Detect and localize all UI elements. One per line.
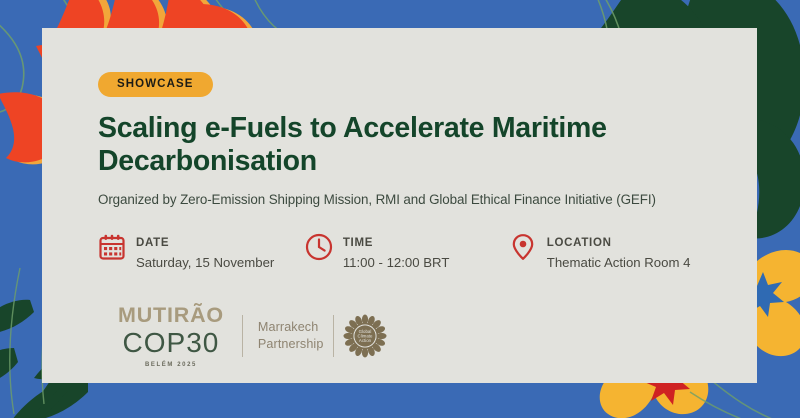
info-value-time: 11:00 - 12:00 BRT bbox=[343, 253, 450, 272]
event-details-row: DATE Saturday, 15 November TIME bbox=[98, 232, 727, 272]
calendar-icon bbox=[98, 233, 126, 261]
info-label-location: LOCATION bbox=[547, 237, 612, 249]
info-text-date: DATE Saturday, 15 November bbox=[136, 232, 274, 272]
logo-strip: MUTIRÃO COP30 BELÉM 2025 Marrakech Partn… bbox=[118, 305, 387, 368]
cop30-logo-belem: BELÉM 2025 bbox=[118, 362, 224, 368]
event-poster: SHOWCASE Scaling e-Fuels to Accelerate M… bbox=[0, 0, 800, 418]
card-inner: SHOWCASE Scaling e-Fuels to Accelerate M… bbox=[98, 72, 727, 272]
info-item-time: TIME 11:00 - 12:00 BRT bbox=[305, 232, 509, 272]
location-pin-icon bbox=[509, 233, 537, 261]
info-value-date: Saturday, 15 November bbox=[136, 253, 274, 272]
global-climate-action-emblem: Global Climate Action bbox=[343, 314, 387, 358]
marrakech-line1: Marrakech bbox=[258, 319, 324, 336]
emblem-line3: Action bbox=[359, 338, 372, 343]
info-label-time: TIME bbox=[343, 237, 373, 249]
clock-icon bbox=[305, 233, 333, 261]
cop30-logo-mutirao: MUTIRÃO bbox=[118, 305, 224, 327]
logo-divider-1 bbox=[242, 315, 243, 357]
info-label-date: DATE bbox=[136, 237, 169, 249]
info-text-time: TIME 11:00 - 12:00 BRT bbox=[343, 232, 450, 272]
page-title: Scaling e-Fuels to Accelerate Maritime D… bbox=[98, 112, 708, 179]
organizers-subtitle: Organized by Zero-Emission Shipping Miss… bbox=[98, 191, 727, 208]
info-text-location: LOCATION Thematic Action Room 4 bbox=[547, 232, 691, 272]
marrakech-partnership-logo: Marrakech Partnership bbox=[258, 319, 324, 353]
info-item-location: LOCATION Thematic Action Room 4 bbox=[509, 232, 727, 272]
info-value-location: Thematic Action Room 4 bbox=[547, 253, 691, 272]
logo-divider-2 bbox=[333, 315, 334, 357]
content-card: SHOWCASE Scaling e-Fuels to Accelerate M… bbox=[42, 28, 757, 383]
cop30-logo: MUTIRÃO COP30 BELÉM 2025 bbox=[118, 305, 224, 368]
cop30-logo-cop30: COP30 bbox=[118, 329, 224, 357]
info-item-date: DATE Saturday, 15 November bbox=[98, 232, 305, 272]
marrakech-line2: Partnership bbox=[258, 336, 324, 353]
showcase-badge: SHOWCASE bbox=[98, 72, 213, 97]
